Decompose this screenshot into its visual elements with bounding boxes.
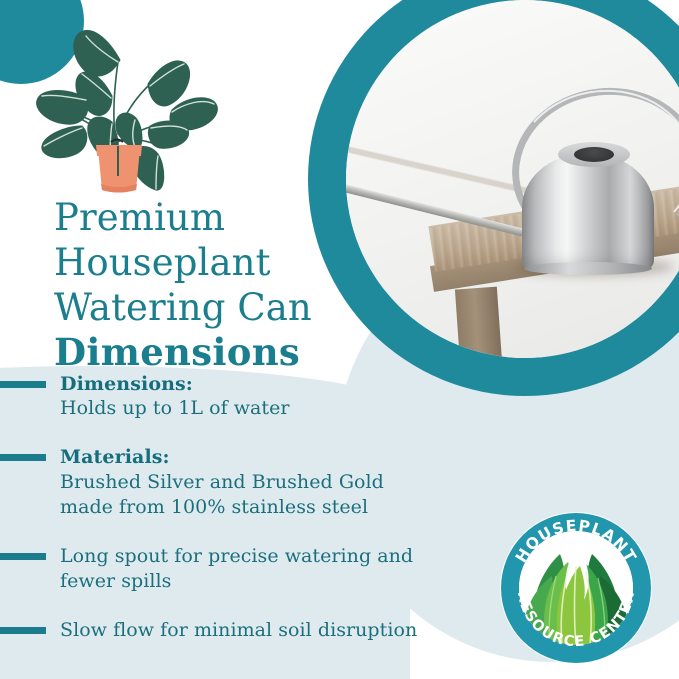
infographic-card: Premium Houseplant Watering Can Dimensio… — [0, 0, 679, 679]
list-item: Materials: Brushed Silver and Brushed Go… — [0, 445, 470, 519]
feature-heading: Materials: — [60, 445, 470, 469]
product-photo — [346, 0, 679, 358]
feature-list: Dimensions: Holds up to 1L of water Mate… — [0, 372, 470, 658]
bullet-dash-icon — [0, 454, 46, 461]
feature-text: Brushed Silver and Brushed Goldmade from… — [60, 470, 470, 520]
bullet-dash-icon — [0, 381, 46, 388]
title-line-2: Houseplant — [54, 241, 374, 286]
list-item: Slow flow for minimal soil disruption — [0, 618, 470, 658]
title-line-4: Dimensions — [54, 330, 374, 375]
bullet-dash-icon — [0, 627, 46, 634]
watering-can-body — [522, 154, 654, 270]
watering-can-opening — [574, 147, 614, 162]
houseplant-illustration — [8, 14, 232, 200]
title-line-3: Watering Can — [54, 286, 374, 331]
list-item: Long spout for precise watering andfewer… — [0, 544, 470, 594]
brand-logo: HOUSEPLANT RESOURCE CENTER — [498, 510, 654, 666]
bullet-dash-icon — [0, 553, 46, 560]
title-line-1: Premium — [54, 196, 374, 241]
photo-table-leg — [455, 287, 503, 358]
feature-text: Slow flow for minimal soil disruption — [60, 618, 470, 643]
feature-heading: Dimensions: — [60, 372, 470, 396]
feature-text: Holds up to 1L of water — [60, 396, 470, 421]
feature-text: Long spout for precise watering andfewer… — [60, 544, 470, 594]
list-item: Dimensions: Holds up to 1L of water — [0, 372, 470, 421]
page-title: Premium Houseplant Watering Can Dimensio… — [54, 196, 374, 375]
